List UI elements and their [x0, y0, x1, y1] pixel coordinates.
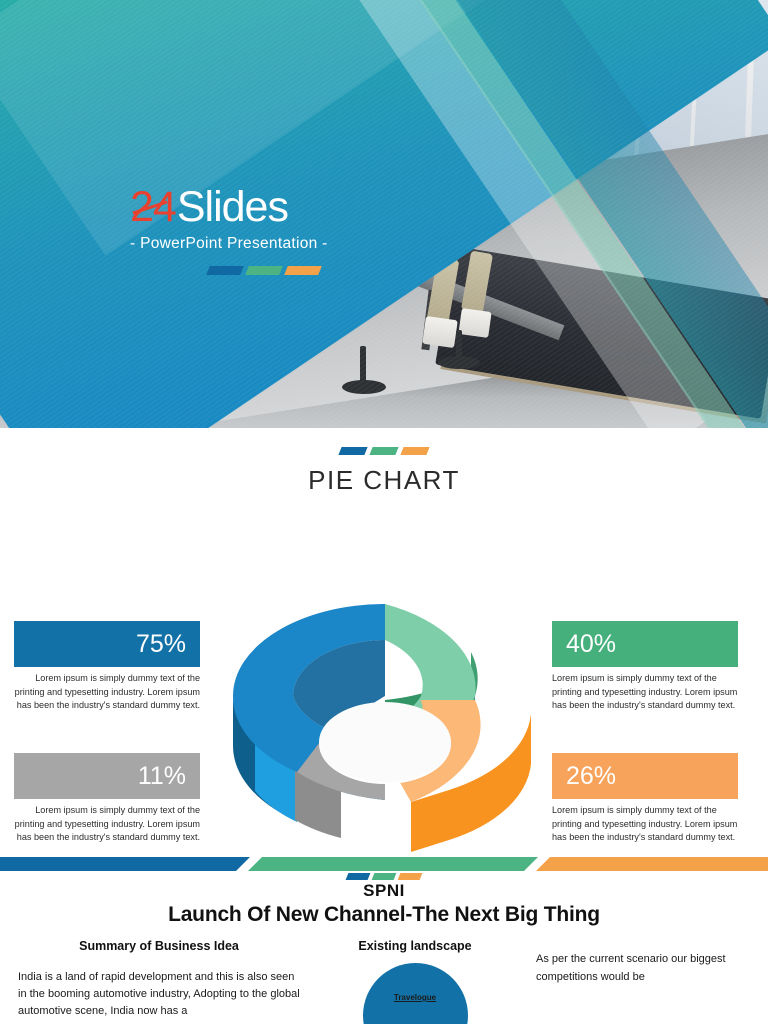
- band-segment-green: [248, 857, 538, 871]
- slice-40-top: [385, 604, 476, 696]
- pie-label-body-26: Lorem ipsum is simply dummy text of the …: [552, 804, 738, 845]
- summary-heading: Summary of Business Idea: [18, 939, 300, 953]
- spni-brand-name: SPNI: [0, 881, 768, 901]
- dash-blue-icon: [338, 447, 367, 455]
- column-competition: As per the current scenario our biggest …: [530, 939, 768, 1024]
- dash-green-icon: [245, 266, 283, 275]
- pie-label-body-11: Lorem ipsum is simply dummy text of the …: [14, 804, 200, 845]
- slide-title-hero: 24Slides - PowerPoint Presentation -: [0, 0, 768, 432]
- column-summary: Summary of Business Idea India is a land…: [0, 939, 300, 1024]
- summary-paragraph: India is a land of rapid development and…: [18, 969, 300, 1020]
- logo-number: 24: [130, 186, 176, 229]
- pie-accent-dashes: [0, 432, 768, 455]
- dash-blue-icon: [346, 873, 371, 880]
- slide-pie-chart: PIE CHART 75% Lorem ipsum is simply dumm…: [0, 432, 768, 864]
- pie-chart-title: PIE CHART: [0, 465, 768, 496]
- dash-orange-icon: [284, 266, 322, 275]
- pie-label-body-40: Lorem ipsum is simply dummy text of the …: [552, 672, 738, 713]
- pie-chart-graphic: [225, 596, 545, 886]
- pie-value-badge-11: 11%: [14, 753, 200, 799]
- hero-logo-block: 24Slides - PowerPoint Presentation -: [130, 186, 450, 275]
- slide-three-columns: Summary of Business Idea India is a land…: [0, 939, 768, 1024]
- dash-orange-icon: [400, 447, 429, 455]
- dash-green-icon: [369, 447, 398, 455]
- band-segment-blue: [0, 857, 250, 871]
- pie-label-11: 11% Lorem ipsum is simply dummy text of …: [14, 753, 200, 845]
- footer-color-band: [0, 857, 768, 871]
- dash-blue-icon: [206, 266, 244, 275]
- travelogue-bubble[interactable]: Travelogue: [363, 963, 468, 1024]
- dash-green-icon: [372, 873, 397, 880]
- pie-chart-stage: 75% Lorem ipsum is simply dummy text of …: [0, 496, 768, 826]
- spni-accent-dashes: [0, 873, 768, 880]
- pie-label-75: 75% Lorem ipsum is simply dummy text of …: [14, 621, 200, 713]
- donut-3d-svg: [225, 596, 545, 886]
- logo-wordmark-text: Slides: [177, 186, 288, 229]
- pie-value-badge-40: 40%: [552, 621, 738, 667]
- slide-new-channel: SPNI Launch Of New Channel-The Next Big …: [0, 871, 768, 1024]
- pie-value-badge-75: 75%: [14, 621, 200, 667]
- pie-label-26: 26% Lorem ipsum is simply dummy text of …: [552, 753, 738, 845]
- hero-subtitle: - PowerPoint Presentation -: [130, 235, 450, 253]
- pie-value-badge-26: 26%: [552, 753, 738, 799]
- brand-logo: 24Slides: [130, 186, 450, 229]
- travelogue-bubble-label: Travelogue: [394, 993, 436, 1002]
- spni-logo: SPNI: [0, 871, 768, 901]
- landscape-heading: Existing landscape: [300, 939, 530, 953]
- pie-label-40: 40% Lorem ipsum is simply dummy text of …: [552, 621, 738, 713]
- competition-paragraph: As per the current scenario our biggest …: [536, 951, 768, 986]
- hero-accent-dashes: [208, 266, 450, 275]
- slide-three-title: Launch Of New Channel-The Next Big Thing: [0, 903, 768, 927]
- column-landscape: Existing landscape Travelogue: [300, 939, 530, 1024]
- dash-orange-icon: [398, 873, 423, 880]
- pie-label-body-75: Lorem ipsum is simply dummy text of the …: [14, 672, 200, 713]
- donut-hole-rim: [319, 702, 451, 782]
- band-segment-orange: [536, 857, 768, 871]
- presentation-document-page: 24Slides - PowerPoint Presentation - PIE…: [0, 0, 768, 1024]
